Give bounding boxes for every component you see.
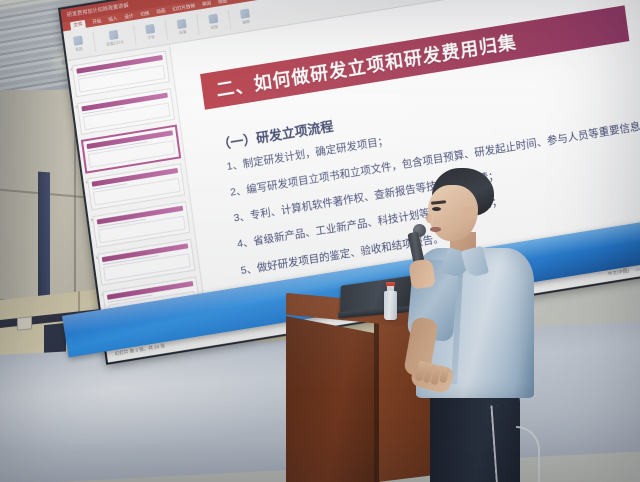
paste-icon bbox=[73, 35, 83, 45]
ribbon-divider-3 bbox=[164, 19, 168, 39]
ribbon-group-paste[interactable]: 粘贴 bbox=[73, 35, 84, 52]
tab-animations[interactable]: 动画 bbox=[156, 7, 166, 14]
ribbon-group-editing[interactable]: 编辑 bbox=[240, 8, 251, 25]
ribbon-group-drawing[interactable]: 绘图 bbox=[208, 13, 219, 30]
slide-banner-accent bbox=[188, 90, 202, 95]
new-slide-icon bbox=[109, 29, 119, 39]
door-frame bbox=[38, 172, 50, 301]
ribbon-label-drawing: 绘图 bbox=[211, 24, 219, 30]
ribbon-group-font[interactable]: 字体 bbox=[145, 23, 156, 40]
ribbon-label-new-slide: 新建幻灯片 bbox=[106, 39, 124, 47]
font-icon bbox=[145, 23, 155, 33]
ribbon-group-paragraph[interactable]: 段落 bbox=[177, 18, 188, 35]
presenter-mouth bbox=[430, 227, 441, 232]
ribbon-divider-5 bbox=[228, 9, 232, 29]
thumbnail-number: 6 bbox=[96, 256, 99, 260]
tab-design[interactable]: 设计 bbox=[124, 13, 134, 20]
presenter-hand-holding-mic bbox=[408, 258, 436, 289]
shapes-icon bbox=[208, 13, 218, 23]
tab-review[interactable]: 审阅 bbox=[202, 0, 212, 7]
tab-transitions[interactable]: 切换 bbox=[140, 10, 150, 17]
ribbon-divider-4 bbox=[196, 14, 200, 34]
ribbon-group-new-slide[interactable]: 新建幻灯片 bbox=[105, 28, 125, 47]
paragraph-icon bbox=[177, 18, 187, 28]
power-outlet bbox=[17, 316, 32, 331]
ribbon-label-paste: 粘贴 bbox=[75, 46, 83, 52]
slide-title-text: 二、如何做研发立项和研发费用归集 bbox=[215, 28, 519, 102]
thumbnail-number: 5 bbox=[90, 218, 93, 222]
tab-home[interactable]: 开始 bbox=[92, 18, 102, 25]
presenter-nose bbox=[426, 214, 433, 223]
ribbon-label-font: 字体 bbox=[147, 34, 155, 40]
microphone-cable-loop bbox=[516, 426, 540, 482]
photo-scene: 研发费用加计扣除政策讲解 PowerPoint 文件 开始 插入 设计 切换 动… bbox=[0, 0, 640, 482]
thumbnail-number: 3 bbox=[80, 143, 83, 147]
ribbon-divider-2 bbox=[133, 25, 137, 45]
podium-corner-edge bbox=[374, 306, 379, 482]
podium-front bbox=[286, 316, 380, 482]
tab-insert[interactable]: 插入 bbox=[108, 15, 118, 22]
water-bottle bbox=[384, 291, 397, 320]
thumbnail-number: 7 bbox=[101, 294, 104, 298]
thumbnail-number: 4 bbox=[85, 181, 88, 185]
ribbon-label-editing: 编辑 bbox=[242, 19, 250, 25]
presenter-ear bbox=[462, 206, 472, 219]
presenter-eye bbox=[432, 207, 441, 211]
edit-icon bbox=[240, 8, 250, 18]
thumbnail-number: 1 bbox=[70, 68, 73, 72]
thumbnail-number: 2 bbox=[75, 105, 78, 109]
presenter bbox=[404, 168, 544, 482]
ribbon-label-paragraph: 段落 bbox=[179, 29, 187, 35]
ribbon-divider-1 bbox=[92, 31, 96, 51]
